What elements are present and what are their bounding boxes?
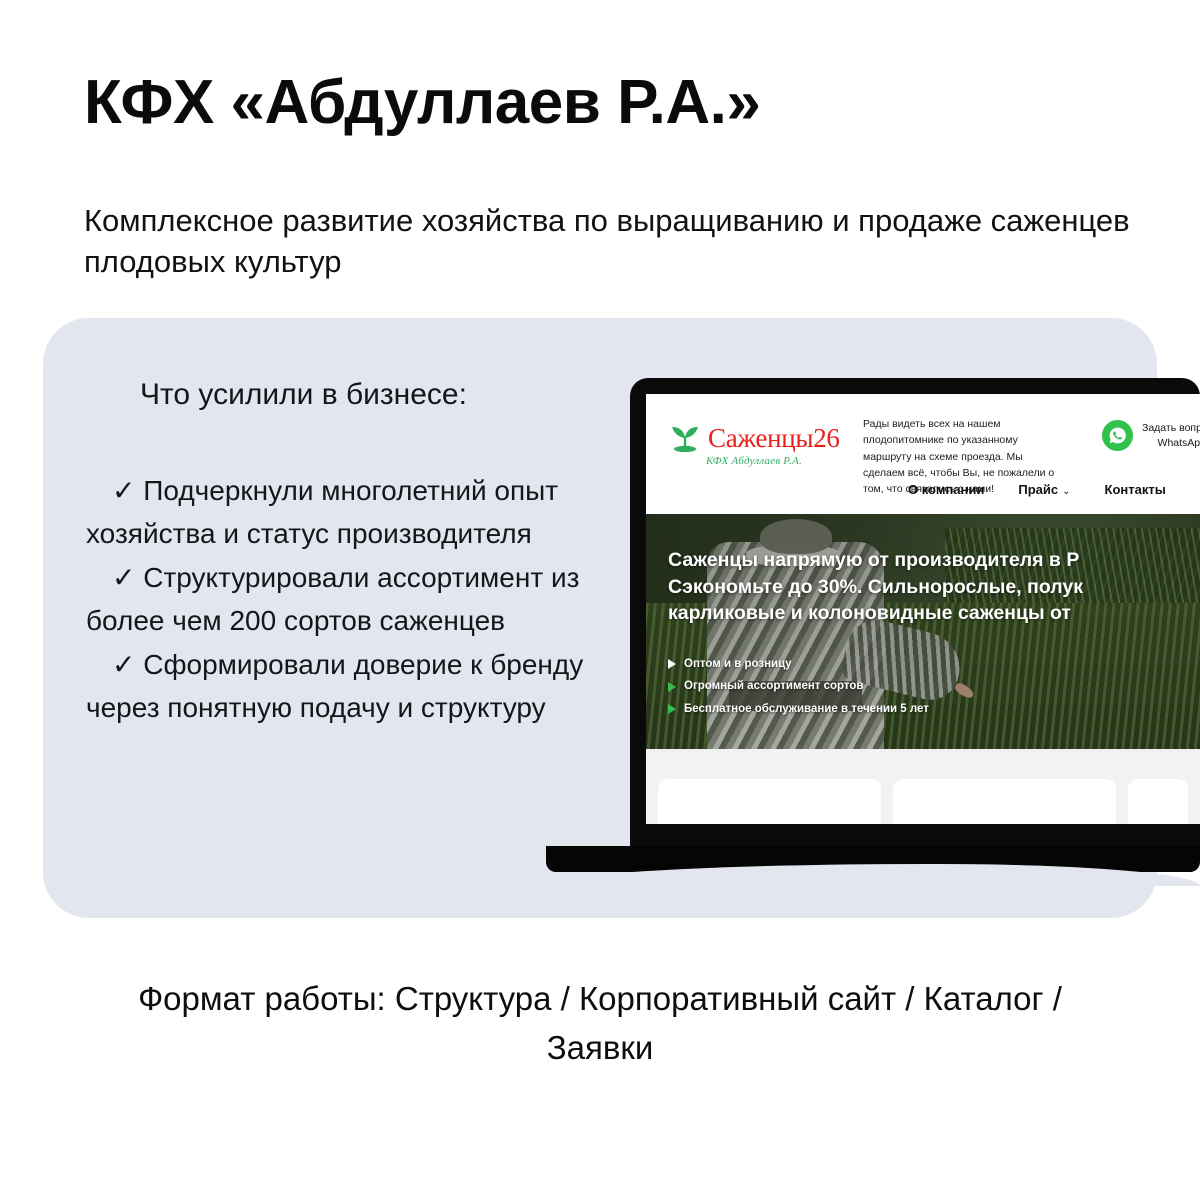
panel-heading: Что усилили в бизнесе: (140, 375, 467, 414)
list-item-label: Оптом и в розницу (684, 653, 792, 675)
triangle-marker-icon (668, 659, 676, 669)
whatsapp-label-line2: WhatsApp (1158, 437, 1200, 449)
page-subtitle: Комплексное развитие хозяйства по выращи… (84, 200, 1154, 282)
whatsapp-label-line1: Задать вопрос в (1142, 422, 1200, 434)
logo-subtitle: КФХ Абдуллаев Р.А. (706, 455, 850, 467)
list-item: ✓ Подчеркнули многолетний опыт хозяйства… (86, 470, 616, 555)
nav-item-contacts[interactable]: Контакты (1105, 482, 1166, 497)
sprout-icon (668, 422, 702, 452)
list-item: ✓ Сформировали доверие к бренду через по… (86, 644, 616, 729)
list-item: Огромный ассортимент сортов (668, 675, 929, 697)
nav-label: О компании (908, 482, 984, 497)
nav-label: Прайс (1018, 482, 1058, 497)
slide-root: КФХ «Абдуллаев Р.А.» Комплексное развити… (0, 0, 1200, 1200)
hero-banner: Саженцы напрямую от производителя в Р Сэ… (646, 514, 1200, 749)
whatsapp-link[interactable]: Задать вопрос в WhatsApp (1102, 420, 1200, 451)
website-preview: Саженцы26 КФХ Абдуллаев Р.А. Рады видеть… (646, 394, 1200, 824)
whatsapp-label: Задать вопрос в WhatsApp (1142, 421, 1200, 449)
nav-item-about[interactable]: О компании (908, 482, 984, 497)
laptop-screen: Саженцы26 КФХ Абдуллаев Р.А. Рады видеть… (646, 394, 1200, 824)
list-item-label: Огромный ассортимент сортов (684, 675, 864, 697)
benefits-list: ✓ Подчеркнули многолетний опыт хозяйства… (86, 470, 616, 731)
laptop-mockup: Саженцы26 КФХ Абдуллаев Р.А. Рады видеть… (546, 378, 1200, 888)
chevron-down-icon: ⌄ (1062, 486, 1070, 497)
site-header: Саженцы26 КФХ Абдуллаев Р.А. Рады видеть… (646, 394, 1200, 514)
page-title: КФХ «Абдуллаев Р.А.» (84, 70, 760, 135)
list-item: ✓ Структурировали ассортимент из более ч… (86, 557, 616, 642)
card-strip (646, 749, 1200, 824)
site-nav: О компании Прайс⌄ Контакты (908, 482, 1166, 497)
whatsapp-icon (1102, 420, 1133, 451)
content-card[interactable] (893, 779, 1116, 824)
site-logo[interactable]: Саженцы26 КФХ Абдуллаев Р.А. (668, 422, 850, 467)
list-item-label: Бесплатное обслуживание в течении 5 лет (684, 698, 929, 720)
content-card[interactable] (1128, 779, 1188, 824)
hero-headline-line: Сэкономьте до 30%. Сильнорослые, полук (668, 574, 1200, 601)
triangle-marker-icon (668, 704, 676, 714)
triangle-marker-icon (668, 682, 676, 692)
footer-caption: Формат работы: Структура / Корпоративный… (0, 975, 1200, 1073)
list-item: Оптом и в розницу (668, 653, 929, 675)
logo-wordmark: Саженцы26 (708, 425, 840, 452)
hero-headline-line: карликовые и колоновидные саженцы от (668, 600, 1200, 627)
list-item: Бесплатное обслуживание в течении 5 лет (668, 698, 929, 720)
hero-feature-list: Оптом и в розницу Огромный ассортимент с… (668, 653, 929, 720)
content-card[interactable] (658, 779, 881, 824)
nav-item-price[interactable]: Прайс⌄ (1018, 482, 1070, 497)
nav-label: Контакты (1105, 482, 1166, 497)
hero-headline-line: Саженцы напрямую от производителя в Р (668, 547, 1200, 574)
hero-headline: Саженцы напрямую от производителя в Р Сэ… (668, 547, 1200, 627)
